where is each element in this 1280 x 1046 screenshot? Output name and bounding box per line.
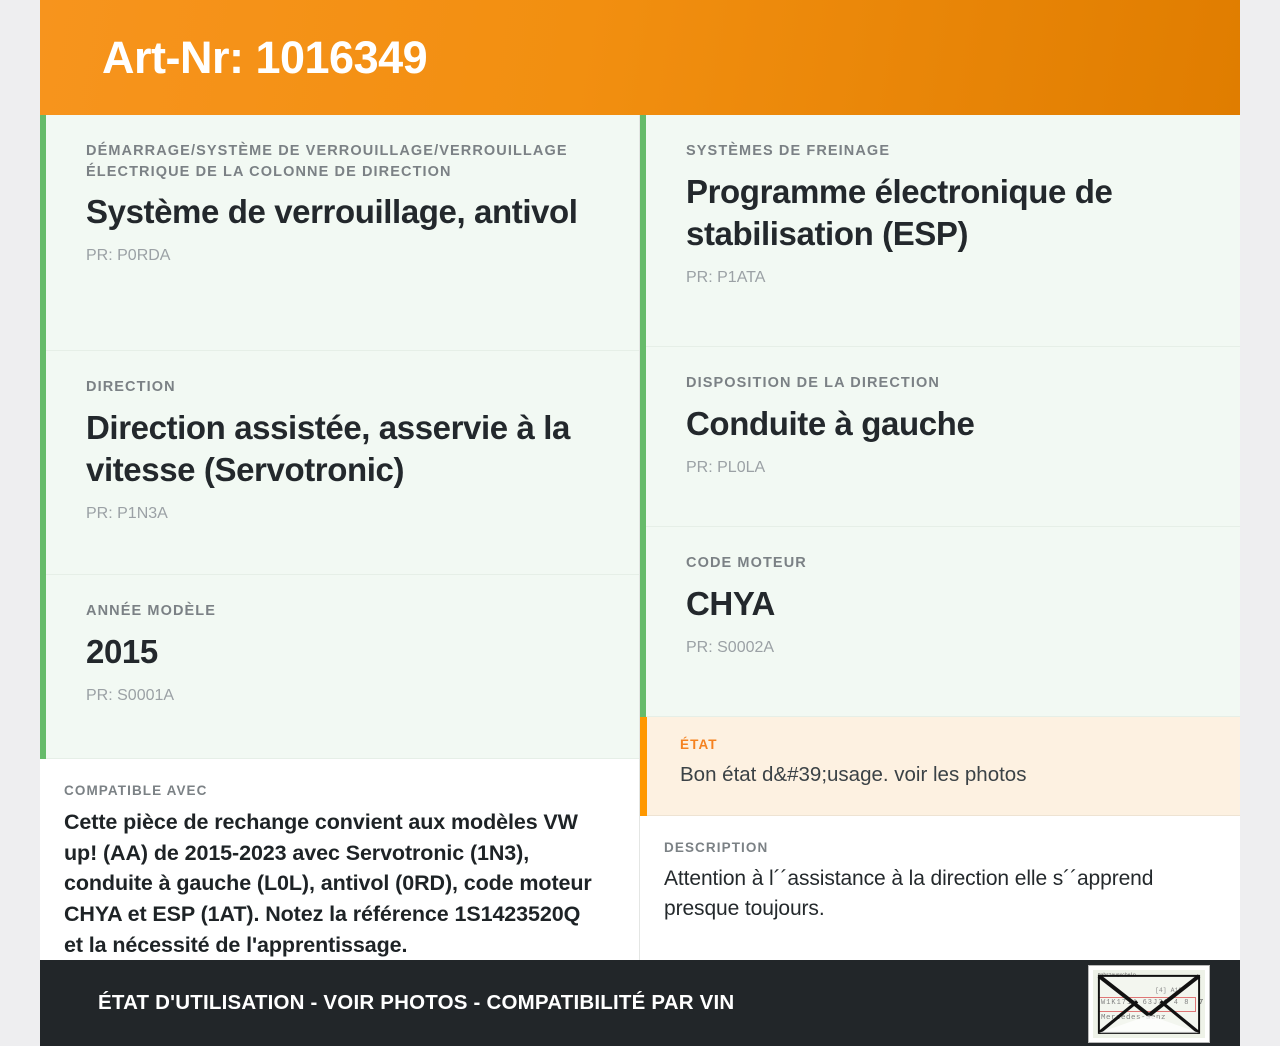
- spec-value: Programme électronique de stabilisation …: [686, 171, 1196, 255]
- spec-value: 2015: [86, 631, 595, 673]
- spec-label: Code moteur: [686, 553, 1196, 574]
- spec-label: Direction: [86, 377, 595, 398]
- spec-columns: Démarrage/système de verrouillage/verrou…: [40, 115, 1240, 960]
- thumbnail-document-image: Fahrzeugschein [4] A18 W1K1714 63J31 4 8…: [1093, 970, 1205, 1038]
- spec-card-locking-system: Démarrage/système de verrouillage/verrou…: [40, 115, 639, 351]
- spec-label: Systèmes de freinage: [686, 141, 1196, 162]
- spec-card-steering-layout: Disposition de la direction Conduite à g…: [640, 347, 1240, 527]
- compatibility-text: Cette pièce de rechange convient aux mod…: [64, 807, 599, 960]
- spec-pr-code: PR: P1ATA: [686, 268, 1196, 287]
- spec-value: Direction assistée, asservie à la vitess…: [86, 407, 595, 491]
- right-column: Systèmes de freinage Programme électroni…: [640, 115, 1240, 960]
- spec-card-steering: Direction Direction assistée, asservie à…: [40, 351, 639, 575]
- spec-card-engine-code: Code moteur CHYA PR: S0002A: [640, 527, 1240, 717]
- compatibility-block: Compatible avec Cette pièce de rechange …: [40, 759, 639, 960]
- screenshot-root: Art-Nr: 1016349 Démarrage/système de ver…: [0, 0, 1280, 1046]
- spec-value: Conduite à gauche: [686, 403, 1196, 445]
- status-text: Bon état d&#39;usage. voir les photos: [680, 761, 1196, 789]
- compatibility-label: Compatible avec: [64, 783, 599, 798]
- footer-text: État d'utilisation - voir photos - compa…: [98, 991, 734, 1015]
- status-label: État: [680, 737, 1196, 752]
- page-title: Art-Nr: 1016349: [102, 35, 427, 80]
- spec-value: CHYA: [686, 583, 1196, 625]
- condition-status-block: État Bon état d&#39;usage. voir les phot…: [640, 717, 1240, 816]
- footer-bar: État d'utilisation - voir photos - compa…: [40, 960, 1240, 1046]
- description-block: Description Attention à l´´assistance à …: [640, 816, 1240, 960]
- spec-label: Disposition de la direction: [686, 373, 1196, 394]
- spec-card-model-year: Année modèle 2015 PR: S0001A: [40, 575, 639, 759]
- spec-pr-code: PR: S0001A: [86, 686, 595, 705]
- description-label: Description: [664, 840, 1200, 855]
- description-text: Attention à l´´assistance à la direction…: [664, 864, 1200, 924]
- spec-label: Année modèle: [86, 601, 595, 622]
- spec-pr-code: PR: P0RDA: [86, 246, 595, 265]
- envelope-icon: [1093, 970, 1205, 1038]
- vin-document-thumbnail[interactable]: Fahrzeugschein [4] A18 W1K1714 63J31 4 8…: [1088, 965, 1210, 1043]
- spec-pr-code: PR: PL0LA: [686, 458, 1196, 477]
- spec-value: Système de verrouillage, antivol: [86, 191, 595, 233]
- spec-pr-code: PR: P1N3A: [86, 504, 595, 523]
- spec-card-braking-system: Systèmes de freinage Programme électroni…: [640, 115, 1240, 347]
- header-bar: Art-Nr: 1016349: [40, 0, 1240, 115]
- spec-label: Démarrage/système de verrouillage/verrou…: [86, 141, 595, 182]
- spec-pr-code: PR: S0002A: [686, 638, 1196, 657]
- left-column: Démarrage/système de verrouillage/verrou…: [40, 115, 640, 960]
- product-spec-sheet: Art-Nr: 1016349 Démarrage/système de ver…: [40, 0, 1240, 1046]
